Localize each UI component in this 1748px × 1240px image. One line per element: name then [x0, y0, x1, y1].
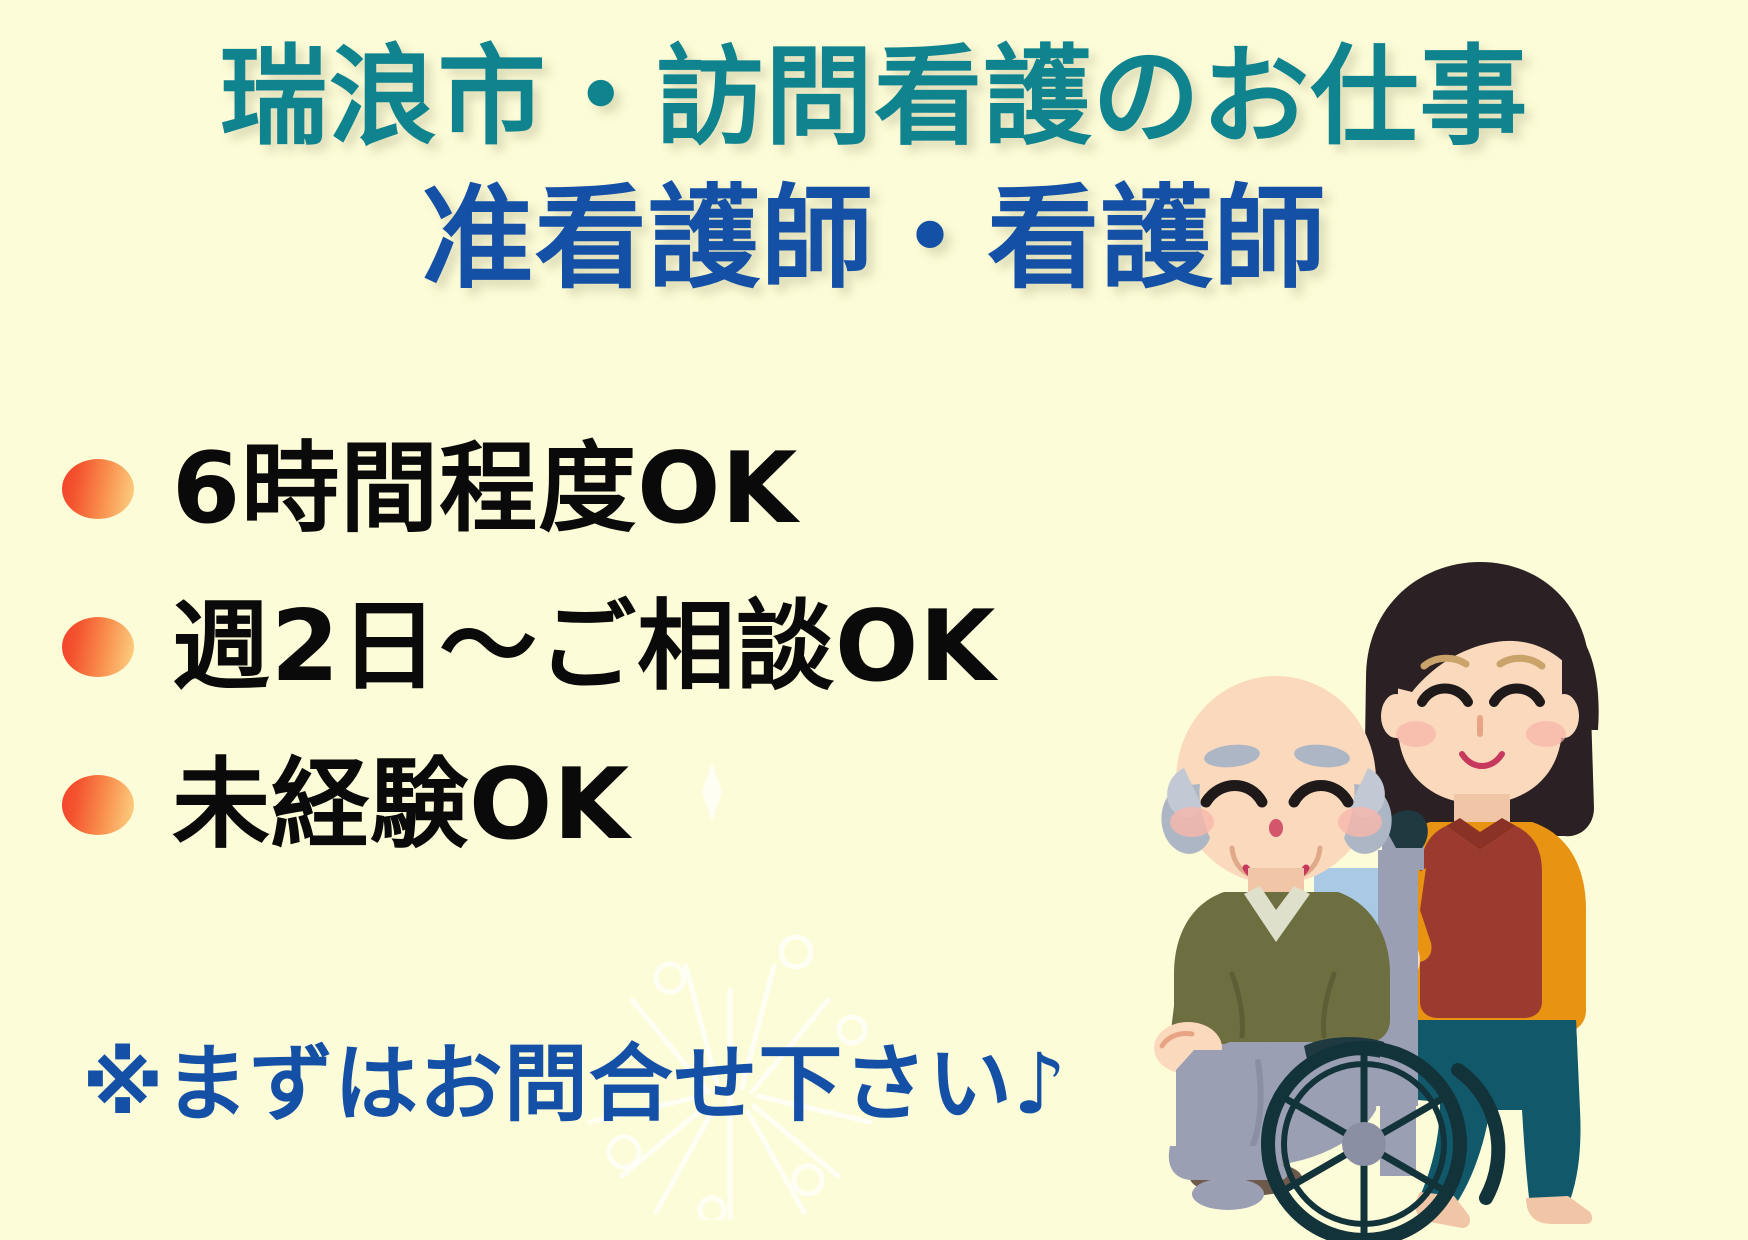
headline-block: 瑞浪市・訪問看護のお仕事 准看護師・看護師 — [0, 34, 1748, 306]
bullet-dot-icon — [62, 775, 134, 835]
benefit-list: 6時間程度OK 週2日〜ご相談OK 未経験OK — [62, 410, 1212, 884]
list-item-label: 週2日〜ご相談OK — [172, 598, 996, 696]
list-item: 6時間程度OK — [62, 410, 1212, 568]
poster-canvas: 瑞浪市・訪問看護のお仕事 准看護師・看護師 6時間程度OK 週2日〜ご相談OK … — [0, 0, 1748, 1240]
list-item-label: 未経験OK — [172, 756, 630, 854]
page-title-secondary: 准看護師・看護師 — [0, 173, 1748, 305]
page-title-primary: 瑞浪市・訪問看護のお仕事 — [0, 34, 1748, 161]
caregiver-pushing-wheelchair-illustration — [1128, 550, 1748, 1240]
list-item: 週2日〜ご相談OK — [62, 568, 1212, 726]
list-item: 未経験OK — [62, 726, 1212, 884]
footnote-text: ※まずはお問合せ下さい♪ — [82, 1042, 1067, 1126]
bullet-dot-icon — [62, 459, 134, 519]
list-item-label: 6時間程度OK — [172, 440, 798, 538]
bullet-dot-icon — [62, 617, 134, 677]
